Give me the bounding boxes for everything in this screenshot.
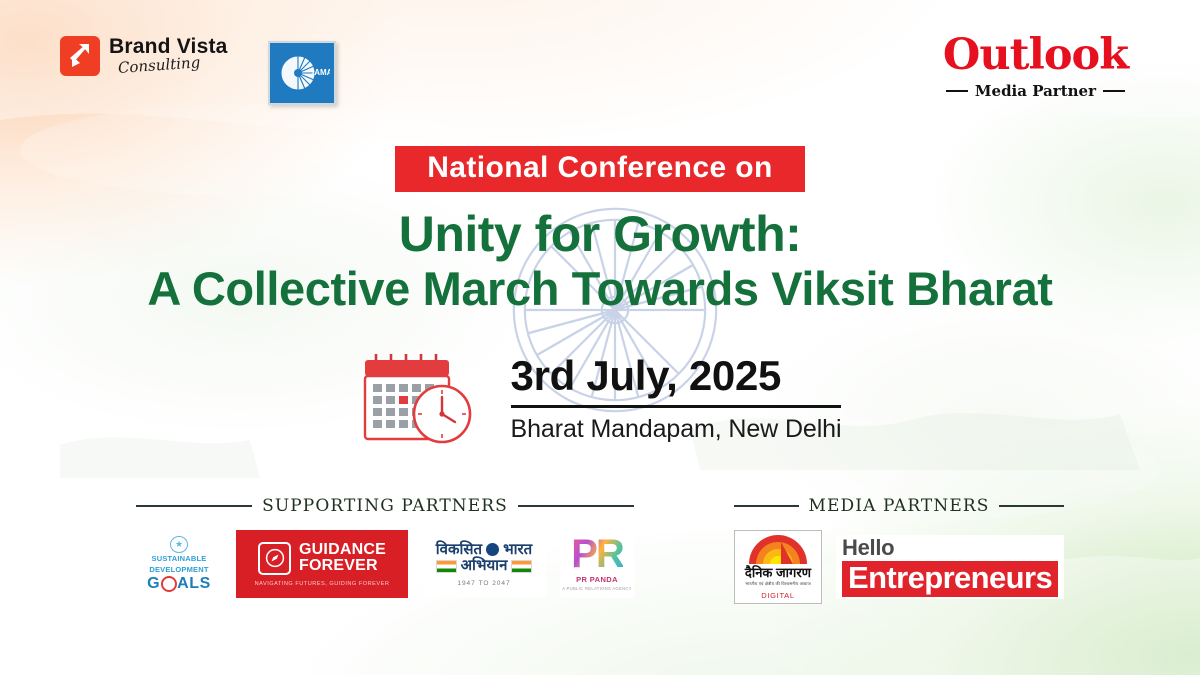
iama-logo: IAMA (268, 41, 336, 105)
guidance-tagline: NAVIGATING FUTURES, GUIDING FOREVER (255, 581, 390, 587)
outlook-rule-left (946, 90, 968, 92)
hello-word: Hello (842, 537, 894, 559)
sdg-line-2: DEVELOPMENT (149, 566, 208, 575)
dainik-jagran-hindi: दैनिक जागरण (745, 566, 811, 579)
conference-poster: Brand Vista Consulting IAMA Outlo (0, 0, 1200, 675)
dainik-jagran-hindi-tagline: भारतीय एवं क्षेत्रीय की विश्वसनीय आवाज (745, 581, 811, 587)
chakra-dot-icon (486, 543, 499, 556)
partners-section: SUPPORTING PARTNERS ★ SUSTAINABLE DEVELO… (0, 496, 1200, 604)
viksit-line-1: विकसित भारत (436, 542, 532, 559)
partner-logo-dainik-jagran: दैनिक जागरण भारतीय एवं क्षेत्रीय की विश्… (734, 530, 822, 604)
partner-logo-pr-panda: PR PR PANDA A PUBLIC RELATIONS AGENCY (560, 530, 634, 598)
viksit-years: 1947 TO 2047 (457, 580, 510, 587)
un-emblem-icon: ★ (170, 536, 188, 553)
media-partners-logos: दैनिक जागरण भारतीय एवं क्षेत्रीय की विश्… (734, 530, 1064, 604)
partner-logo-hello-entrepreneurs: Hello Entrepreneurs (836, 535, 1064, 599)
conference-ribbon: National Conference on (395, 146, 805, 192)
outlook-wordmark: Outlook (943, 34, 1128, 77)
calendar-clock-icon (359, 350, 487, 448)
viksit-line-2: अभियान (436, 558, 533, 575)
viksit-word-viksit: विकसित (436, 542, 482, 559)
supporting-partners-column: SUPPORTING PARTNERS ★ SUSTAINABLE DEVELO… (136, 496, 634, 604)
svg-text:IAMA: IAMA (312, 68, 330, 77)
conference-title-line-1: Unity for Growth: (0, 208, 1200, 260)
brand-vista-logo: Brand Vista Consulting (60, 36, 228, 76)
sunrise-icon (747, 534, 809, 564)
heading-rule-right (518, 505, 634, 507)
guidance-line-1: GUIDANCE (299, 541, 386, 558)
brand-vista-wordmark: Brand Vista Consulting (109, 36, 228, 76)
supporting-partners-heading: SUPPORTING PARTNERS (136, 496, 634, 516)
dainik-jagran-digital-label: DIGITAL (761, 591, 795, 600)
conference-title-line-2: A Collective March Towards Viksit Bharat (0, 264, 1200, 314)
viksit-word-abhiyan: अभियान (461, 558, 508, 575)
event-venue: Bharat Mandapam, New Delhi (511, 415, 842, 444)
media-partners-heading: MEDIA PARTNERS (734, 496, 1064, 516)
headline-block: National Conference on Unity for Growth:… (0, 146, 1200, 314)
sdg-goals-prefix: G (147, 576, 160, 592)
viksit-word-bharat: भारत (503, 542, 532, 559)
pr-panda-name: PR PANDA (576, 575, 618, 584)
pr-panda-tagline: A PUBLIC RELATIONS AGENCY (562, 586, 632, 591)
guidance-lockup: GUIDANCE FOREVER (258, 542, 386, 575)
partner-logo-viksit-bharat-abhiyan: विकसित भारत अभियान 1947 TO 2047 (422, 531, 546, 597)
partner-logo-guidance-forever: GUIDANCE FOREVER NAVIGATING FUTURES, GUI… (236, 530, 408, 598)
date-venue-text: 3rd July, 2025 Bharat Mandapam, New Delh… (511, 354, 842, 443)
entrepreneurs-word: Entrepreneurs (842, 561, 1058, 597)
media-partners-title: MEDIA PARTNERS (809, 496, 990, 516)
outlook-logo: Outlook Media Partner (943, 34, 1128, 100)
sdg-goals-word: G ALS (147, 576, 211, 592)
heading-rule-left (136, 505, 252, 507)
media-partners-column: MEDIA PARTNERS दैनिक जागरण भारतीय एवं क्… (734, 496, 1064, 604)
outlook-media-partner-row: Media Partner (943, 82, 1128, 100)
outlook-media-partner-label: Media Partner (975, 82, 1096, 100)
date-divider (511, 405, 842, 408)
iama-chakra-icon: IAMA (274, 47, 330, 99)
date-venue-block: 3rd July, 2025 Bharat Mandapam, New Delh… (0, 350, 1200, 448)
event-date: 3rd July, 2025 (511, 354, 782, 398)
guidance-line-2: FOREVER (299, 557, 378, 574)
guidance-wordmark: GUIDANCE FOREVER (299, 542, 386, 575)
brand-vista-arrow-icon (60, 36, 100, 76)
tricolor-ribbon-left-icon (436, 560, 457, 573)
partner-logo-sdg: ★ SUSTAINABLE DEVELOPMENT G ALS (136, 532, 222, 596)
sdg-ring-icon (161, 576, 177, 592)
sdg-line-1: SUSTAINABLE (152, 555, 207, 564)
pr-panda-monogram: PR (571, 537, 623, 571)
supporting-partners-title: SUPPORTING PARTNERS (262, 496, 508, 516)
sdg-goals-suffix: ALS (177, 576, 211, 592)
outlook-rule-right (1103, 90, 1125, 92)
tricolor-ribbon-right-icon (511, 560, 532, 573)
media-heading-rule-left (734, 505, 799, 507)
media-heading-rule-right (999, 505, 1064, 507)
compass-icon (258, 542, 291, 575)
supporting-partners-logos: ★ SUSTAINABLE DEVELOPMENT G ALS (136, 530, 634, 598)
